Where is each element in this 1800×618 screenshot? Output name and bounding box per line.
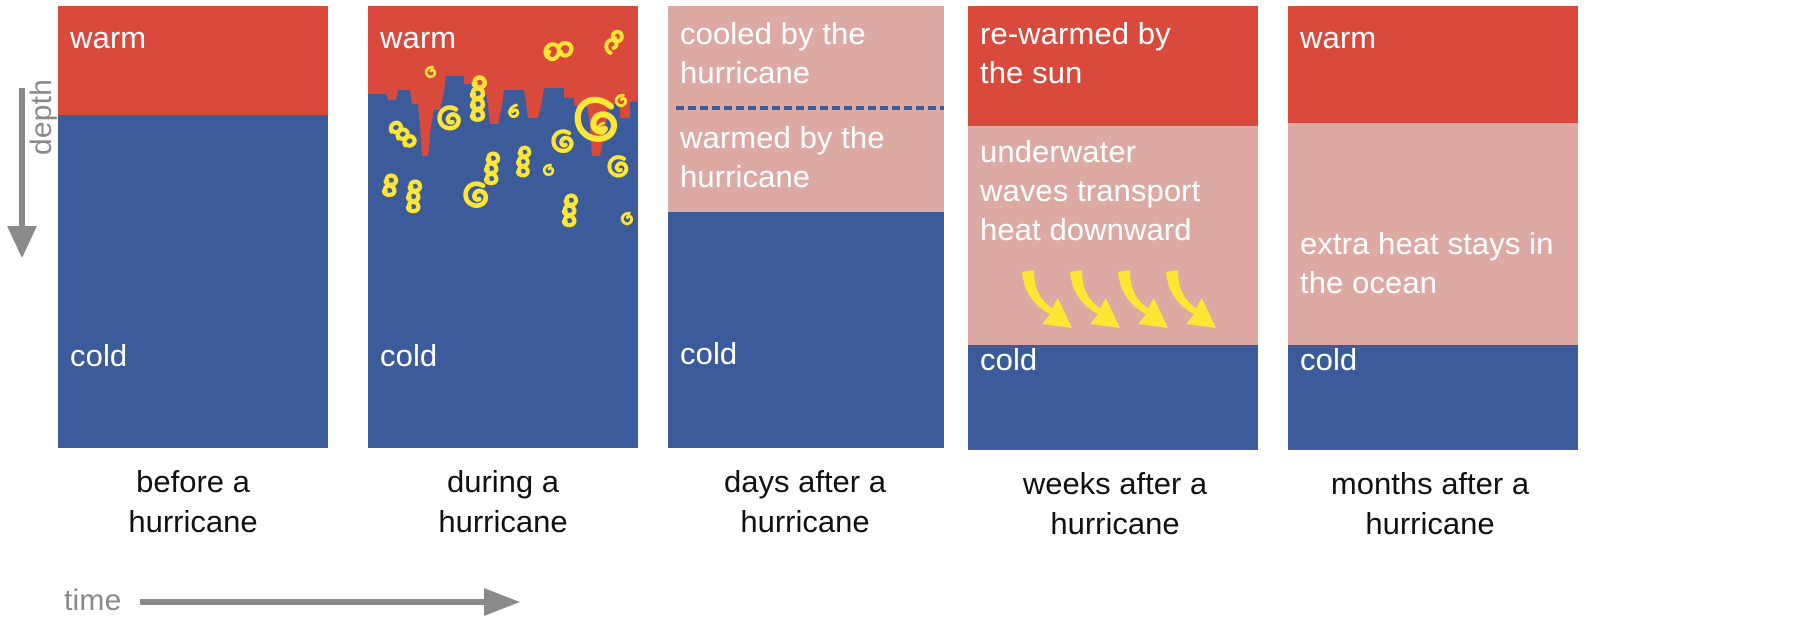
layer-label-re-warmed: re-warmed by the sun: [980, 14, 1171, 92]
time-axis-label: time: [64, 584, 121, 618]
layer-label-warmed: warmed by the hurricane: [680, 118, 885, 196]
panel-caption-weeks-after: weeks after a hurricane: [968, 464, 1262, 545]
layer-label-underwater-waves: underwater waves transport heat downward: [980, 132, 1200, 249]
layer-label-cold: cold: [680, 334, 737, 373]
panel-before-a-hurricane: warm cold: [58, 6, 328, 448]
depth-arrow-icon: [0, 88, 44, 258]
cold-deep-layer: [58, 115, 328, 448]
layer-label-cold: cold: [380, 336, 437, 375]
layer-label-cold: cold: [70, 336, 127, 375]
layer-label-warm: warm: [1300, 18, 1376, 57]
panel-weeks-after-a-hurricane: re-warmed by the sun underwater waves tr…: [968, 6, 1258, 450]
panel-during-a-hurricane: warm cold: [368, 6, 638, 448]
panel-caption-during: during a hurricane: [358, 462, 648, 543]
layer-label-warm: warm: [380, 18, 456, 57]
layer-label-warm: warm: [70, 18, 146, 57]
turbulent-eddy-swirls: [368, 6, 638, 448]
cold-deep-layer: [668, 212, 944, 448]
panel-months-after-a-hurricane: warm extra heat stays in the ocean cold: [1288, 6, 1578, 450]
panel-days-after-a-hurricane: cooled by the hurricane warmed by the hu…: [668, 6, 944, 448]
panel-caption-before: before a hurricane: [48, 462, 338, 543]
figure-canvas: depth warm cold before a hurricane: [0, 0, 1800, 618]
layer-label-cold: cold: [1300, 340, 1357, 379]
time-arrow-icon: [140, 588, 520, 616]
panel-caption-months-after: months after a hurricane: [1280, 464, 1580, 545]
panel-caption-days-after: days after a hurricane: [660, 462, 950, 543]
dashed-divider: [676, 106, 944, 110]
layer-label-extra-heat: extra heat stays in the ocean: [1300, 224, 1553, 302]
layer-label-cold: cold: [980, 340, 1037, 379]
layer-label-cooled: cooled by the hurricane: [680, 14, 866, 92]
